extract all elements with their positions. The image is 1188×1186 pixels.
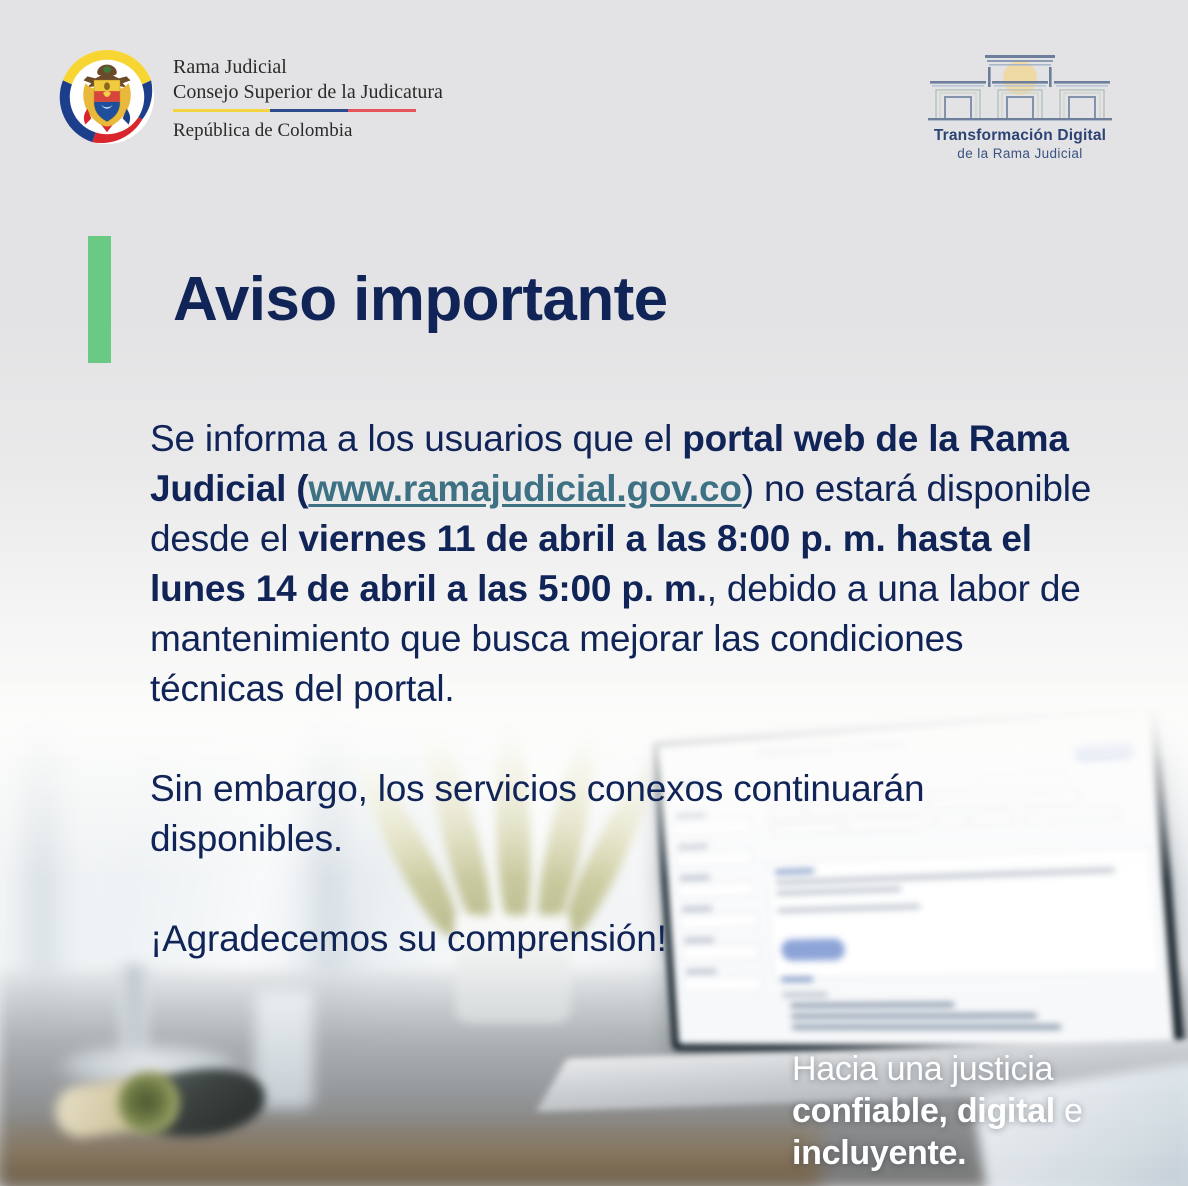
- page-title-block: Aviso importante: [88, 236, 668, 363]
- rama-judicial-brand: Rama Judicial Consejo Superior de la Jud…: [58, 48, 443, 146]
- tagline-line-1: Hacia una justicia: [792, 1048, 1092, 1090]
- notice-p1-lead: Se informa a los usuarios que el: [150, 418, 682, 459]
- aviso-importante-poster: Publicaciones Procesales: [0, 0, 1188, 1186]
- title-accent-bar: [88, 236, 111, 363]
- brand-line-consejo-superior: Consejo Superior de la Judicatura: [173, 80, 443, 105]
- brand-line-republica: República de Colombia: [173, 112, 443, 143]
- colombia-coat-of-arms-icon: [58, 48, 156, 146]
- header: Rama Judicial Consejo Superior de la Jud…: [0, 0, 1188, 180]
- tagline-line-3: incluyente.: [792, 1132, 1092, 1174]
- td-subtitle: de la Rama Judicial: [914, 145, 1126, 163]
- courthouse-building-icon: [922, 48, 1118, 124]
- page-title: Aviso importante: [173, 269, 668, 331]
- transformacion-digital-brand: Transformación Digital de la Rama Judici…: [914, 48, 1126, 163]
- campaign-tagline: Hacia una justicia confiable, digital e …: [792, 1048, 1092, 1174]
- poster-content: Rama Judicial Consejo Superior de la Jud…: [0, 0, 1188, 1186]
- brand-text-block: Rama Judicial Consejo Superior de la Jud…: [173, 51, 443, 143]
- paragraph-spacer: [150, 864, 1098, 914]
- notice-paragraph-1: Se informa a los usuarios que el portal …: [150, 414, 1098, 714]
- notice-paragraph-3: ¡Agradecemos su comprensión!: [150, 914, 1098, 964]
- paragraph-spacer: [150, 714, 1098, 764]
- tagline-line-2-plain: e: [1055, 1092, 1083, 1130]
- notice-body: Se informa a los usuarios que el portal …: [150, 414, 1098, 964]
- tagline-line-2-strong: confiable, digital: [792, 1092, 1055, 1130]
- portal-url-link[interactable]: www.ramajudicial.gov.co: [308, 468, 741, 509]
- tagline-line-2: confiable, digital e: [792, 1090, 1092, 1132]
- td-title: Transformación Digital: [914, 126, 1126, 145]
- brand-line-rama-judicial: Rama Judicial: [173, 55, 443, 80]
- notice-paragraph-2: Sin embargo, los servicios conexos conti…: [150, 764, 1098, 864]
